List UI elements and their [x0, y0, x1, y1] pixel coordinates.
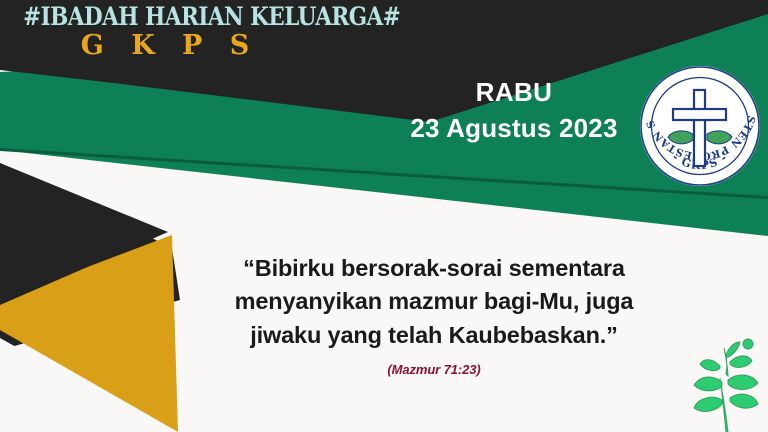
- verse-line-2: menyanyikan mazmur bagi-Mu, juga: [176, 285, 692, 318]
- date-block: RABU 23 Agustus 2023: [396, 78, 632, 144]
- full-date: 23 Agustus 2023: [396, 113, 632, 144]
- cross-joint-clear: [696, 111, 703, 118]
- plant-leaf-5: [700, 360, 720, 371]
- poster-subtitle-gkps: G K P S: [0, 32, 330, 59]
- plant-leaf-4: [730, 394, 758, 408]
- cross-vertical: [694, 90, 705, 166]
- plant-leaf-6: [730, 356, 752, 368]
- poster-title: #IBADAH HARIAN KELUARGA#: [23, 4, 307, 30]
- plant-bud: [743, 339, 753, 349]
- header-text-block: #IBADAH HARIAN KELUARGA# G K P S: [0, 0, 330, 59]
- gkps-logo-svg: GEREJA KRISTEN PROTESTAN SIMALUNGUN - GK…: [637, 63, 763, 189]
- verse-block: “Bibirku bersorak-sorai sementara menyan…: [176, 252, 692, 377]
- plant-leaf-7: [726, 342, 740, 358]
- verse-line-3: jiwaku yang telah Kaubebaskan.”: [176, 319, 692, 352]
- verse-line-1: “Bibirku bersorak-sorai sementara: [176, 252, 692, 285]
- plant-decoration: [686, 330, 766, 432]
- poster-canvas: #IBADAH HARIAN KELUARGA# G K P S RABU 23…: [0, 0, 768, 432]
- plant-leaves-icon: [686, 330, 766, 432]
- plant-leaf-1: [694, 377, 722, 391]
- gkps-logo: GEREJA KRISTEN PROTESTAN SIMALUNGUN - GK…: [637, 63, 763, 189]
- day-name: RABU: [396, 78, 632, 108]
- plant-leaf-2: [728, 375, 758, 390]
- verse-reference: (Mazmur 71:23): [176, 362, 692, 377]
- plant-leaf-3: [694, 397, 722, 411]
